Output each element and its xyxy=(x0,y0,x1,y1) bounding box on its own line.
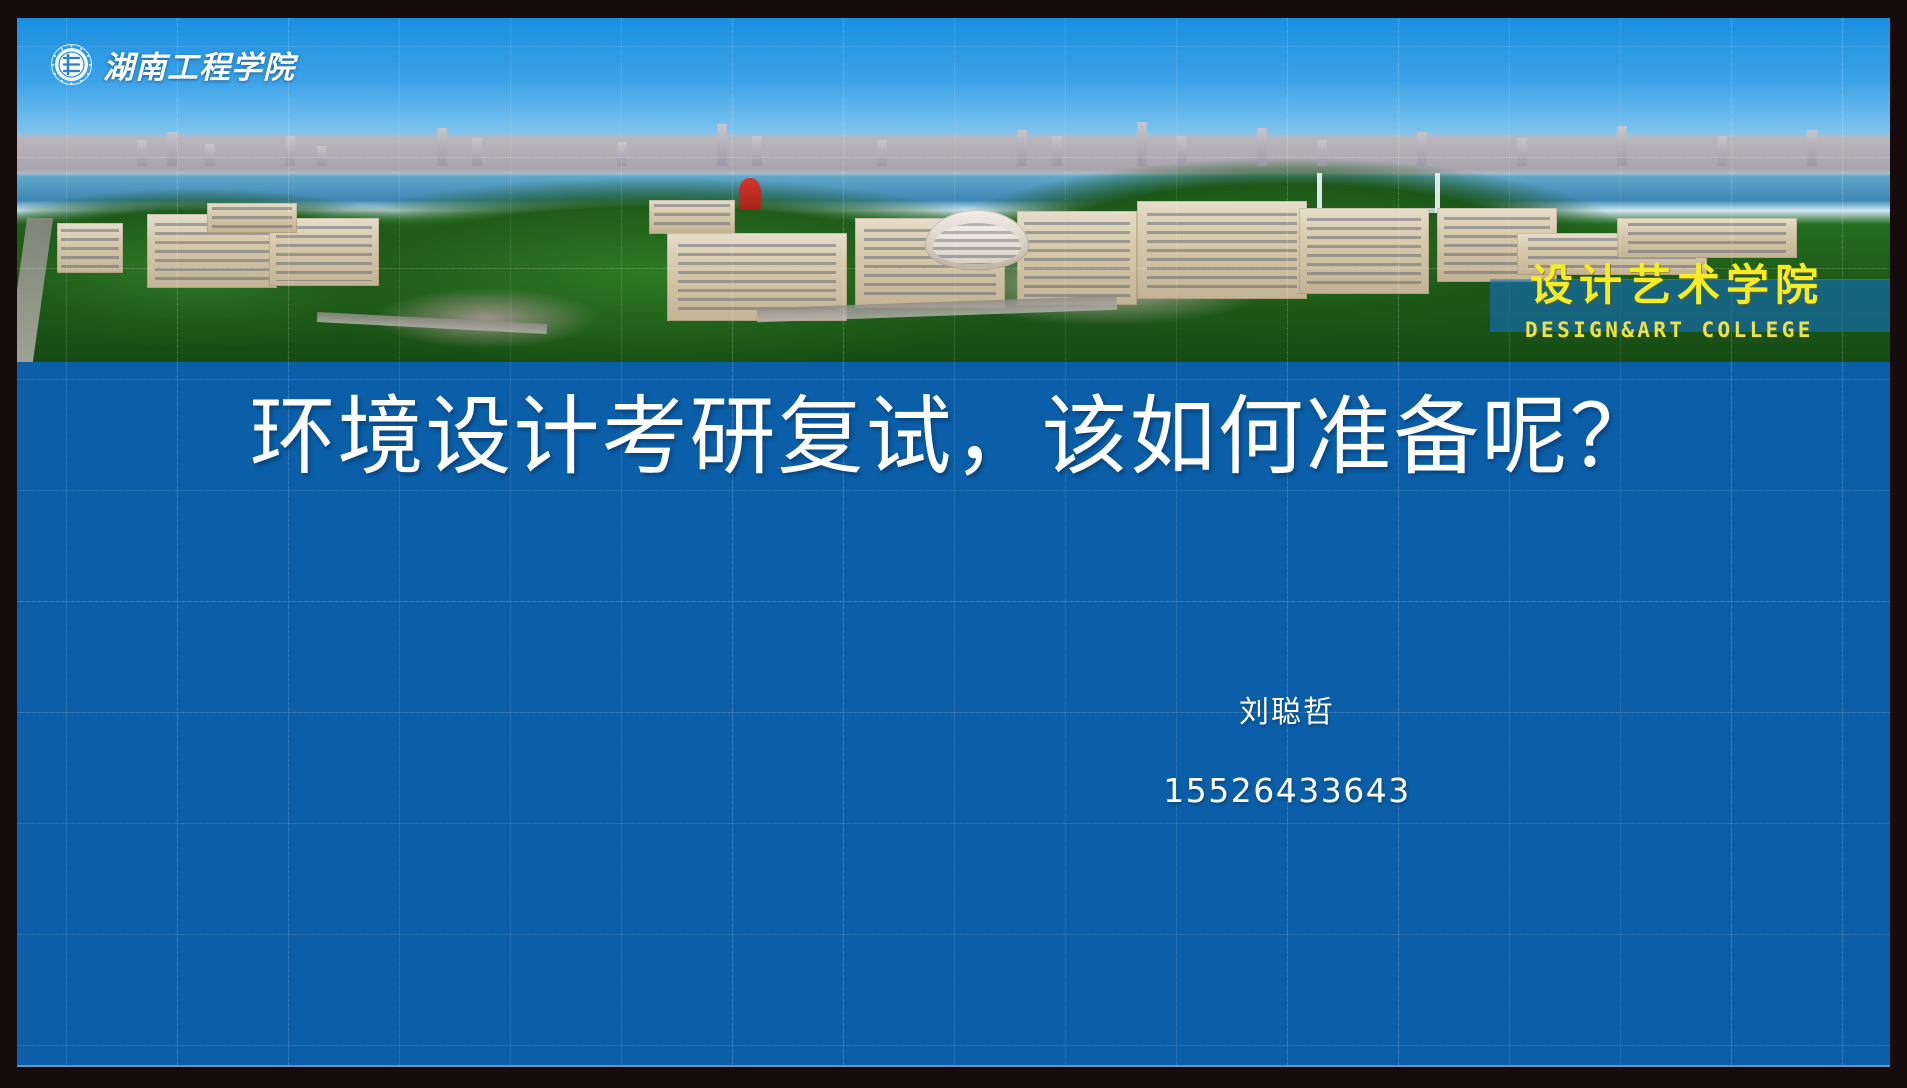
university-logo: 湖南工程学院 xyxy=(50,42,295,87)
presentation-slide: 湖南工程学院 设计艺术学院 DESIGN&ART COLLEGE 环境设计考研复… xyxy=(17,18,1890,1067)
college-name-cn: 设计艺术学院 xyxy=(1530,265,1860,308)
slide-title: 环境设计考研复试，该如何准备呢？ xyxy=(17,390,1890,485)
presenter-block: 刘聪哲 15526433643 xyxy=(1067,698,1507,807)
presenter-phone: 15526433643 xyxy=(1067,774,1507,807)
slide-bottom-edge xyxy=(17,1065,1890,1067)
university-name: 湖南工程学院 xyxy=(103,42,295,87)
college-name-en: DESIGN&ART COLLEGE xyxy=(1525,318,1814,342)
presenter-name: 刘聪哲 xyxy=(1067,698,1507,728)
slide-viewer: 湖南工程学院 设计艺术学院 DESIGN&ART COLLEGE 环境设计考研复… xyxy=(0,0,1907,1088)
university-seal-icon xyxy=(50,43,93,86)
